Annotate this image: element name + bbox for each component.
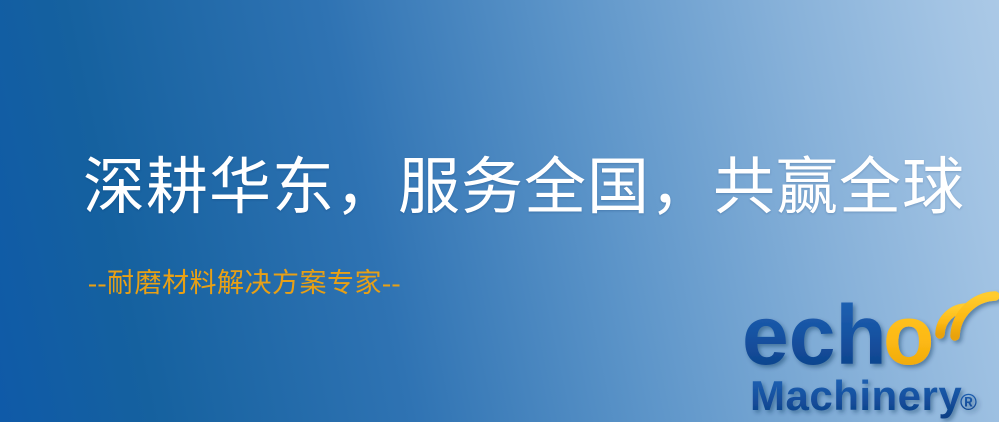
wifi-signal-arcs-icon [940,296,995,336]
company-logo[interactable]: ech o Machinery ® [744,292,999,422]
promo-banner: 深耕华东，服务全国，共赢全球 --耐磨材料解决方案专家-- [0,0,999,422]
page-title: 深耕华东，服务全国，共赢全球 [83,151,943,225]
registered-trademark-icon: ® [960,389,977,415]
logo-echo-gold-letter: o [883,288,934,382]
banner-subtitle: --耐磨材料解决方案专家-- [88,267,401,299]
logo-machinery-text: Machinery [750,372,962,419]
logo-echo-blue-text: ech [742,288,887,382]
